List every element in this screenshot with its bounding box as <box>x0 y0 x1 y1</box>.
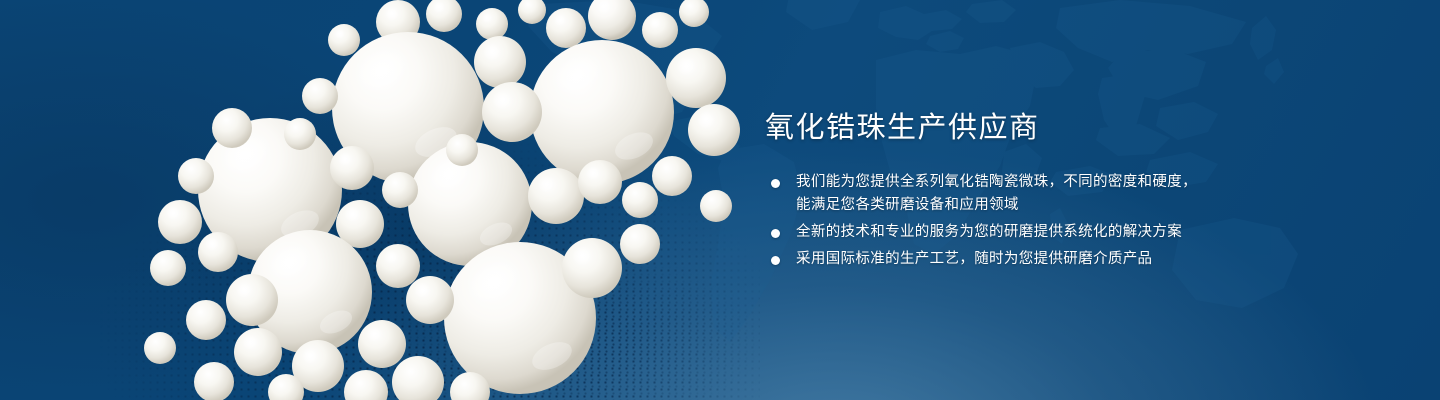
hero-banner: 氧化锆珠生产供应商 我们能为您提供全系列氧化锆陶瓷微珠，不同的密度和硬度， 能满… <box>0 0 1440 400</box>
halftone-texture <box>0 120 760 400</box>
feature-bullet-list: 我们能为您提供全系列氧化锆陶瓷微珠，不同的密度和硬度， 能满足您各类研磨设备和应… <box>765 171 1235 271</box>
list-item: 我们能为您提供全系列氧化锆陶瓷微珠，不同的密度和硬度， 能满足您各类研磨设备和应… <box>765 171 1235 217</box>
bullet-dot-icon <box>771 179 780 188</box>
bullet-dot-icon <box>771 229 780 238</box>
banner-copy: 氧化锆珠生产供应商 我们能为您提供全系列氧化锆陶瓷微珠，不同的密度和硬度， 能满… <box>765 108 1235 271</box>
zirconia-beads-image <box>0 0 760 400</box>
bullet-line: 采用国际标准的生产工艺，随时为您提供研磨介质产品 <box>796 248 1235 271</box>
halftone-texture-secondary <box>330 250 760 400</box>
bullet-line: 我们能为您提供全系列氧化锆陶瓷微珠，不同的密度和硬度， <box>796 171 1235 194</box>
bullet-dot-icon <box>771 256 780 265</box>
list-item: 全新的技术和专业的服务为您的研磨提供系统化的解决方案 <box>765 221 1235 244</box>
bullet-line: 全新的技术和专业的服务为您的研磨提供系统化的解决方案 <box>796 221 1235 244</box>
list-item: 采用国际标准的生产工艺，随时为您提供研磨介质产品 <box>765 248 1235 271</box>
bullet-line: 能满足您各类研磨设备和应用领域 <box>796 194 1235 217</box>
banner-headline: 氧化锆珠生产供应商 <box>765 108 1235 148</box>
